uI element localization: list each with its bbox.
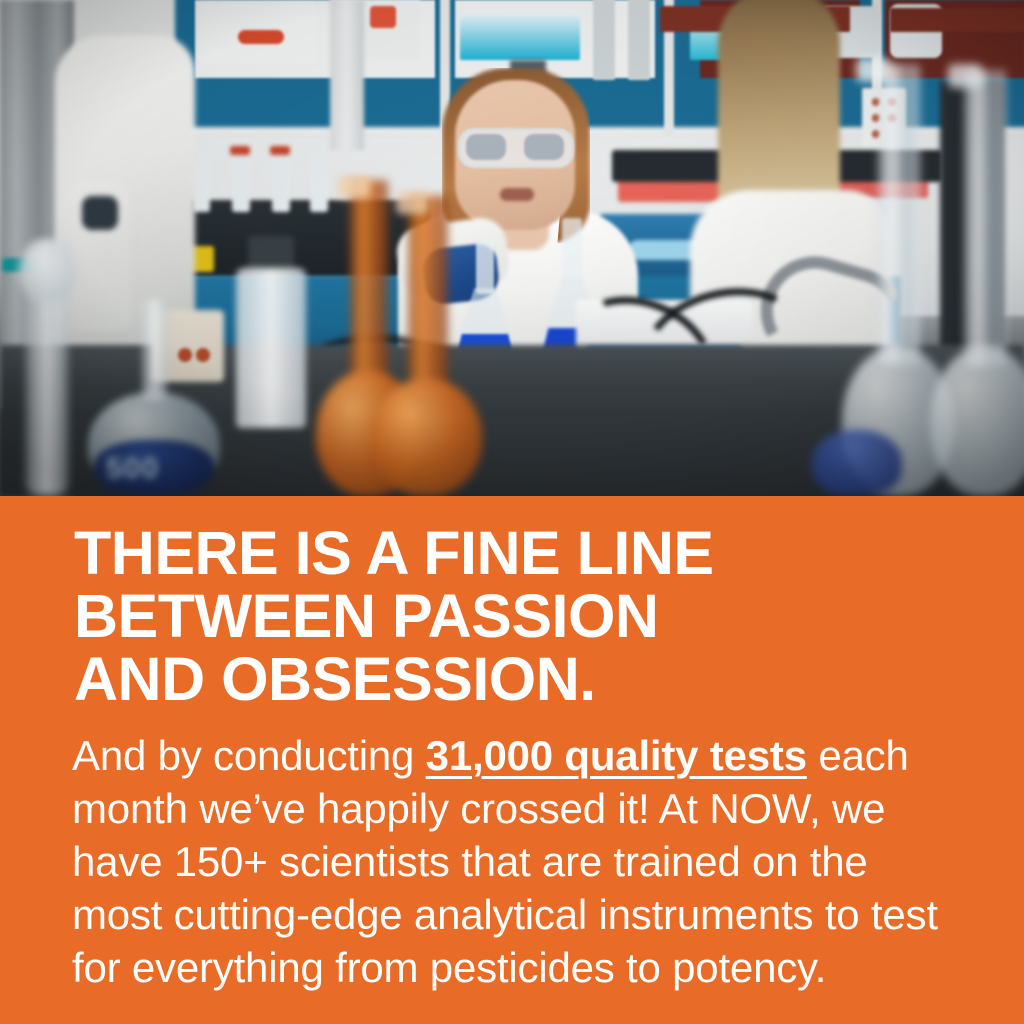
clear-volumetric-flask: [930, 70, 1024, 496]
orange-text-panel: THERE IS A FINE LINE BETWEEN PASSION AND…: [0, 496, 1024, 1024]
scientist-center-mouth: [500, 188, 534, 201]
flask-stopper: [948, 64, 982, 88]
flask-bulb: [372, 378, 482, 496]
vial-cap-red: [270, 146, 290, 155]
scientist-left-hand: [82, 196, 118, 230]
wall-column: [330, 0, 364, 150]
laboratory-photo: 500: [0, 0, 1024, 496]
flask-neck: [562, 218, 582, 284]
amber-volumetric-flask: [372, 196, 482, 496]
instrument-vial: [272, 150, 290, 212]
white-bottle-foreground: [236, 268, 306, 428]
shelf-bottle-cyan: [460, 14, 580, 60]
flask-stopper: [338, 176, 370, 198]
volumetric-flask-500ml: 500: [88, 300, 220, 496]
flask-bulb: [930, 346, 1024, 496]
blue-liquid-flask-foreground: [812, 430, 902, 496]
headline: THERE IS A FINE LINE BETWEEN PASSION AND…: [74, 522, 974, 711]
shelf-rack-red: [890, 8, 1024, 32]
flask-stopper: [856, 58, 890, 82]
body-text-before: And by conducting: [72, 732, 426, 779]
marketing-poster: 500 THERE IS A FINE: [0, 0, 1024, 1024]
shelf-tube: [593, 0, 615, 80]
body-copy: And by conducting 31,000 quality tests e…: [72, 729, 952, 994]
shelf-tube: [628, 0, 650, 80]
instrument-vial: [232, 150, 250, 212]
goggles-lens-right: [524, 134, 564, 160]
goggles-lens-left: [466, 134, 506, 160]
shelf-label-red: [238, 30, 284, 44]
flask-volume-label: 500: [106, 452, 159, 486]
shelf-label-red: [370, 6, 396, 28]
flask-stopper: [396, 192, 428, 214]
quality-tests-highlight: 31,000 quality tests: [426, 732, 807, 779]
flask-neck: [142, 300, 167, 400]
flask-neck: [878, 64, 920, 364]
pipette-bulb: [18, 242, 76, 302]
vial-cap-red: [230, 146, 250, 155]
flask-neck: [964, 70, 1006, 366]
flask-neck: [408, 196, 448, 396]
